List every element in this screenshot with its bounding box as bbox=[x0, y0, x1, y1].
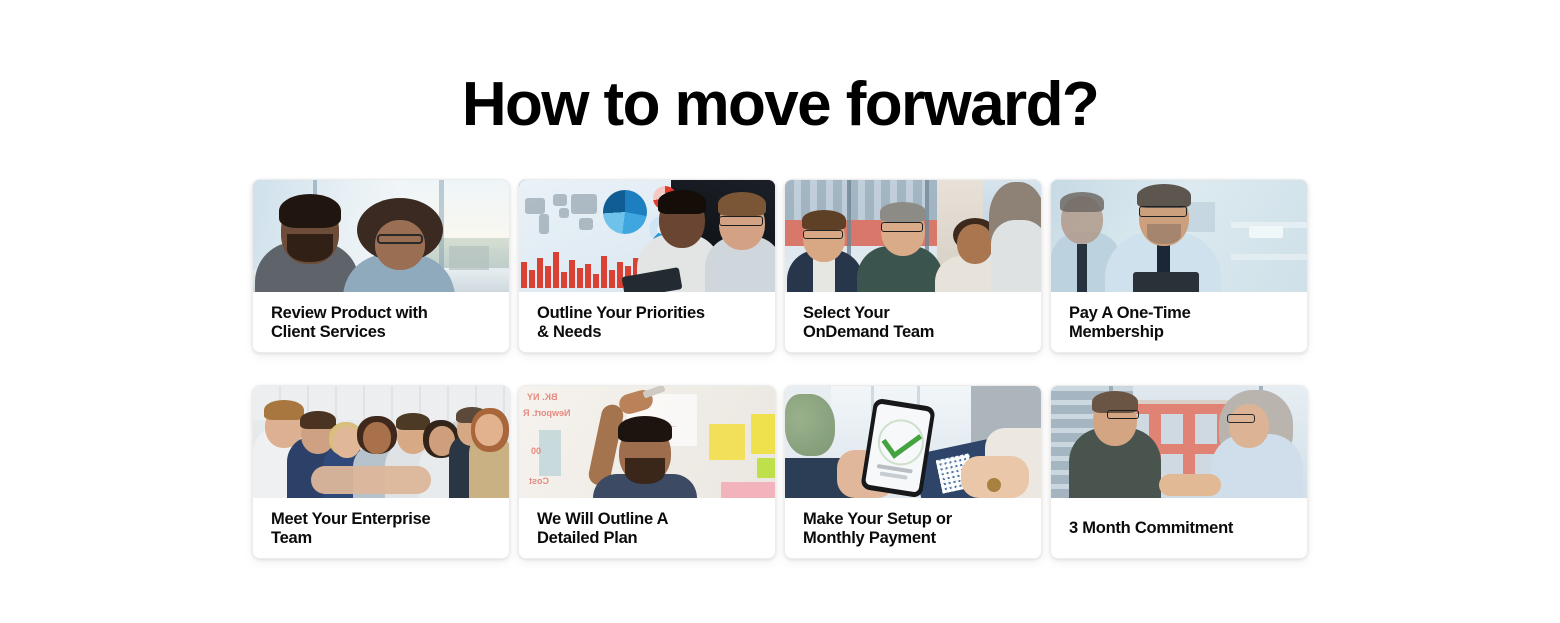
man-stubble bbox=[1147, 224, 1181, 244]
woman-face bbox=[375, 220, 425, 270]
page-title: How to move forward? bbox=[0, 68, 1560, 142]
sticky-note-yellow-2 bbox=[751, 414, 775, 454]
step-card-2[interactable]: Outline Your Priorities & Needs bbox=[518, 179, 776, 353]
man-beard bbox=[287, 234, 333, 262]
person-1-hair bbox=[264, 400, 304, 420]
man-hair bbox=[279, 194, 341, 228]
card-image-review-product bbox=[253, 180, 509, 292]
step-title-8: 3 Month Commitment bbox=[1069, 519, 1233, 538]
man-glasses-icon bbox=[1139, 206, 1187, 217]
reflection-hair bbox=[1060, 192, 1104, 212]
shelf-lower bbox=[1231, 254, 1307, 260]
city-building bbox=[449, 246, 489, 270]
tablet-device bbox=[1133, 272, 1199, 292]
step-title-2: Outline Your Priorities & Needs bbox=[537, 304, 757, 341]
woman-glasses-icon bbox=[1227, 414, 1255, 423]
step-title-3: Select Your OnDemand Team bbox=[803, 304, 1023, 341]
card-body-1: Review Product with Client Services bbox=[253, 292, 509, 352]
pie-chart-icon bbox=[603, 190, 647, 234]
card-image-detailed-plan: BK. NY Newport. R 00 Cost → bbox=[519, 386, 775, 498]
card-body-5: Meet Your Enterprise Team bbox=[253, 498, 509, 558]
person-1-hair bbox=[802, 210, 846, 230]
card-body-8: 3 Month Commitment bbox=[1051, 498, 1307, 558]
step-card-5[interactable]: Meet Your Enterprise Team bbox=[252, 385, 510, 559]
man-hair bbox=[1137, 184, 1191, 208]
person-4-torso bbox=[991, 220, 1041, 292]
step-card-1[interactable]: Review Product with Client Services bbox=[252, 179, 510, 353]
man-a-hair bbox=[658, 190, 706, 214]
steps-row-2: Meet Your Enterprise Team BK. NY Newport… bbox=[252, 385, 1308, 559]
card-body-3: Select Your OnDemand Team bbox=[785, 292, 1041, 352]
man-glasses-icon bbox=[1107, 410, 1139, 419]
person-3-head bbox=[957, 224, 993, 264]
person-2-hair bbox=[880, 202, 926, 222]
card-image-outline-priorities bbox=[519, 180, 775, 292]
step-card-8[interactable]: 3 Month Commitment bbox=[1050, 385, 1308, 559]
handshake bbox=[1159, 474, 1221, 496]
caption-line-2 bbox=[879, 471, 907, 479]
step-card-4[interactable]: Pay A One-Time Membership bbox=[1050, 179, 1308, 353]
sticky-note-pink bbox=[721, 482, 775, 498]
person-4-head bbox=[363, 422, 391, 454]
step-title-1: Review Product with Client Services bbox=[271, 304, 491, 341]
teal-note-block bbox=[539, 430, 561, 476]
woman-glasses-icon bbox=[377, 234, 423, 244]
steps-grid: Review Product with Client Services bbox=[252, 179, 1308, 559]
step-title-6: We Will Outline A Detailed Plan bbox=[537, 510, 757, 547]
card-image-setup-payment bbox=[785, 386, 1041, 498]
step-card-3[interactable]: Select Your OnDemand Team bbox=[784, 179, 1042, 353]
wristwatch bbox=[987, 478, 1001, 492]
world-map-icon bbox=[523, 188, 601, 240]
man-hair bbox=[618, 416, 672, 442]
desk-lamp bbox=[1249, 226, 1283, 238]
step-card-7[interactable]: Make Your Setup or Monthly Payment bbox=[784, 385, 1042, 559]
person-8-head bbox=[475, 414, 503, 446]
card-image-meet-enterprise-team bbox=[253, 386, 509, 498]
person-1-glasses-icon bbox=[803, 230, 843, 239]
office-plant bbox=[785, 394, 835, 456]
card-body-7: Make Your Setup or Monthly Payment bbox=[785, 498, 1041, 558]
phone-screen bbox=[865, 403, 931, 492]
card-body-4: Pay A One-Time Membership bbox=[1051, 292, 1307, 352]
card-body-6: We Will Outline A Detailed Plan bbox=[519, 498, 775, 558]
person-2-glasses-icon bbox=[881, 222, 923, 232]
stacked-hands bbox=[311, 466, 431, 494]
sticky-note-green bbox=[757, 458, 775, 478]
person-2-hair bbox=[300, 411, 336, 429]
card-image-three-month-commitment bbox=[1051, 386, 1307, 498]
how-to-move-forward-section: How to move forward? bbox=[0, 0, 1560, 623]
man-b-hair bbox=[718, 192, 766, 216]
man-beard bbox=[625, 458, 665, 484]
step-title-5: Meet Your Enterprise Team bbox=[271, 510, 491, 547]
card-body-2: Outline Your Priorities & Needs bbox=[519, 292, 775, 352]
woman-face bbox=[1229, 404, 1269, 448]
card-image-one-time-membership bbox=[1051, 180, 1307, 292]
step-card-6[interactable]: BK. NY Newport. R 00 Cost → bbox=[518, 385, 776, 559]
reflection-tie bbox=[1077, 244, 1087, 292]
sticky-note-yellow-1 bbox=[709, 424, 745, 460]
card-image-select-team bbox=[785, 180, 1041, 292]
step-title-7: Make Your Setup or Monthly Payment bbox=[803, 510, 1023, 547]
step-title-4: Pay A One-Time Membership bbox=[1069, 304, 1289, 341]
steps-row-1: Review Product with Client Services bbox=[252, 179, 1308, 353]
man-b-glasses-icon bbox=[719, 216, 763, 226]
